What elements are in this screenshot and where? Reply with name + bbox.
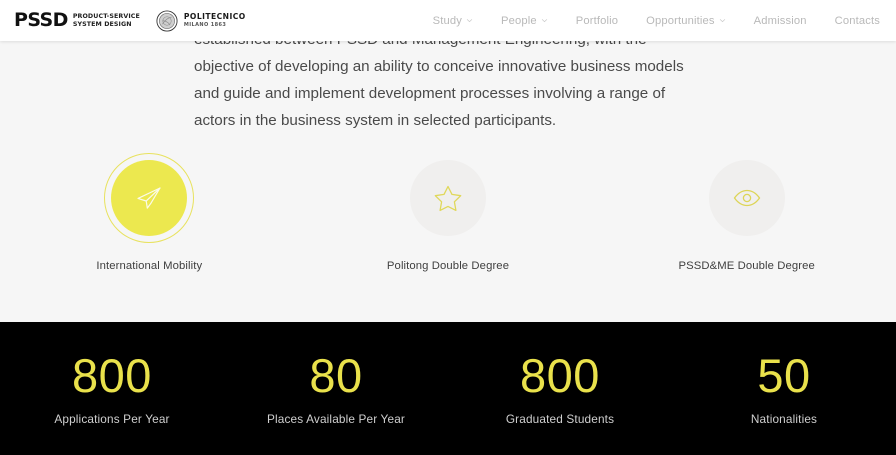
nav-item-contacts-label: Contacts [835, 15, 880, 27]
chevron-down-icon [541, 17, 548, 24]
stat-number: 800 [520, 352, 600, 399]
feature-label: Politong Double Degree [387, 260, 509, 272]
nav-item-portfolio[interactable]: Portfolio [562, 15, 632, 27]
feature-disc [410, 160, 486, 236]
politecnico-text: POLITECNICO MILANO 1863 [184, 13, 246, 28]
intro-paragraph: established between PSSD and Management … [194, 26, 714, 134]
star-icon [432, 182, 464, 214]
brand-block[interactable]: PSSD PRODUCT-SERVICE SYSTEM DESIGN [0, 10, 246, 32]
politecnico-year: MILANO 1863 [184, 22, 246, 28]
feature-label: International Mobility [96, 260, 202, 272]
feature-list: International Mobility Politong Double D… [0, 160, 896, 272]
site-header: PSSD PRODUCT-SERVICE SYSTEM DESIGN [0, 0, 896, 41]
pssd-wordmark: PSSD [14, 11, 68, 30]
stat-applications-per-year: 800 Applications Per Year [0, 352, 224, 426]
feature-international-mobility[interactable]: International Mobility [0, 160, 299, 272]
stat-number: 80 [309, 352, 362, 399]
stat-caption: Nationalities [751, 412, 817, 426]
feature-pssd-me-double-degree[interactable]: PSSD&ME Double Degree [597, 160, 896, 272]
nav-item-people[interactable]: People [487, 15, 562, 27]
main-navigation: Study People Portfolio Opportunities [419, 15, 896, 27]
feature-disc-wrapper [709, 160, 785, 236]
stat-caption: Graduated Students [506, 412, 614, 426]
stat-caption: Places Available Per Year [267, 412, 405, 426]
feature-disc-wrapper [410, 160, 486, 236]
nav-item-study[interactable]: Study [419, 15, 487, 27]
chevron-down-icon [466, 17, 473, 24]
statistics-band: 800 Applications Per Year 80 Places Avai… [0, 322, 896, 455]
stat-number: 800 [72, 352, 152, 399]
nav-item-admission[interactable]: Admission [740, 15, 821, 27]
stat-graduated-students: 800 Graduated Students [448, 352, 672, 426]
eye-icon [731, 182, 763, 214]
intro-line-4: actors in the business system in selecte… [194, 107, 714, 134]
chevron-down-icon [719, 17, 726, 24]
nav-item-contacts[interactable]: Contacts [821, 15, 880, 27]
pssd-tagline-line-2: SYSTEM DESIGN [73, 21, 132, 28]
stat-places-available-per-year: 80 Places Available Per Year [224, 352, 448, 426]
intro-line-2: objective of developing an ability to co… [194, 53, 714, 80]
feature-disc [709, 160, 785, 236]
nav-item-people-label: People [501, 15, 537, 27]
pssd-tagline: PRODUCT-SERVICE SYSTEM DESIGN [73, 13, 140, 28]
stat-number: 50 [757, 352, 810, 399]
nav-item-opportunities[interactable]: Opportunities [632, 15, 740, 27]
nav-item-opportunities-label: Opportunities [646, 15, 715, 27]
pssd-logo[interactable]: PSSD PRODUCT-SERVICE SYSTEM DESIGN [14, 11, 140, 30]
page-root: PSSD PRODUCT-SERVICE SYSTEM DESIGN [0, 0, 896, 455]
stat-caption: Applications Per Year [54, 412, 169, 426]
nav-item-admission-label: Admission [754, 15, 807, 27]
feature-disc-wrapper [111, 160, 187, 236]
feature-disc-ring [104, 153, 194, 243]
feature-label: PSSD&ME Double Degree [678, 260, 814, 272]
politecnico-logo[interactable]: POLITECNICO MILANO 1863 [156, 10, 246, 32]
pssd-tagline-line-1: PRODUCT-SERVICE [73, 13, 140, 20]
stat-nationalities: 50 Nationalities [672, 352, 896, 426]
nav-item-study-label: Study [433, 15, 462, 27]
nav-item-portfolio-label: Portfolio [576, 15, 618, 27]
politecnico-seal-icon [156, 10, 178, 32]
intro-line-3: and guide and implement development proc… [194, 80, 714, 107]
feature-politong-double-degree[interactable]: Politong Double Degree [299, 160, 598, 272]
politecnico-name: POLITECNICO [184, 13, 246, 21]
